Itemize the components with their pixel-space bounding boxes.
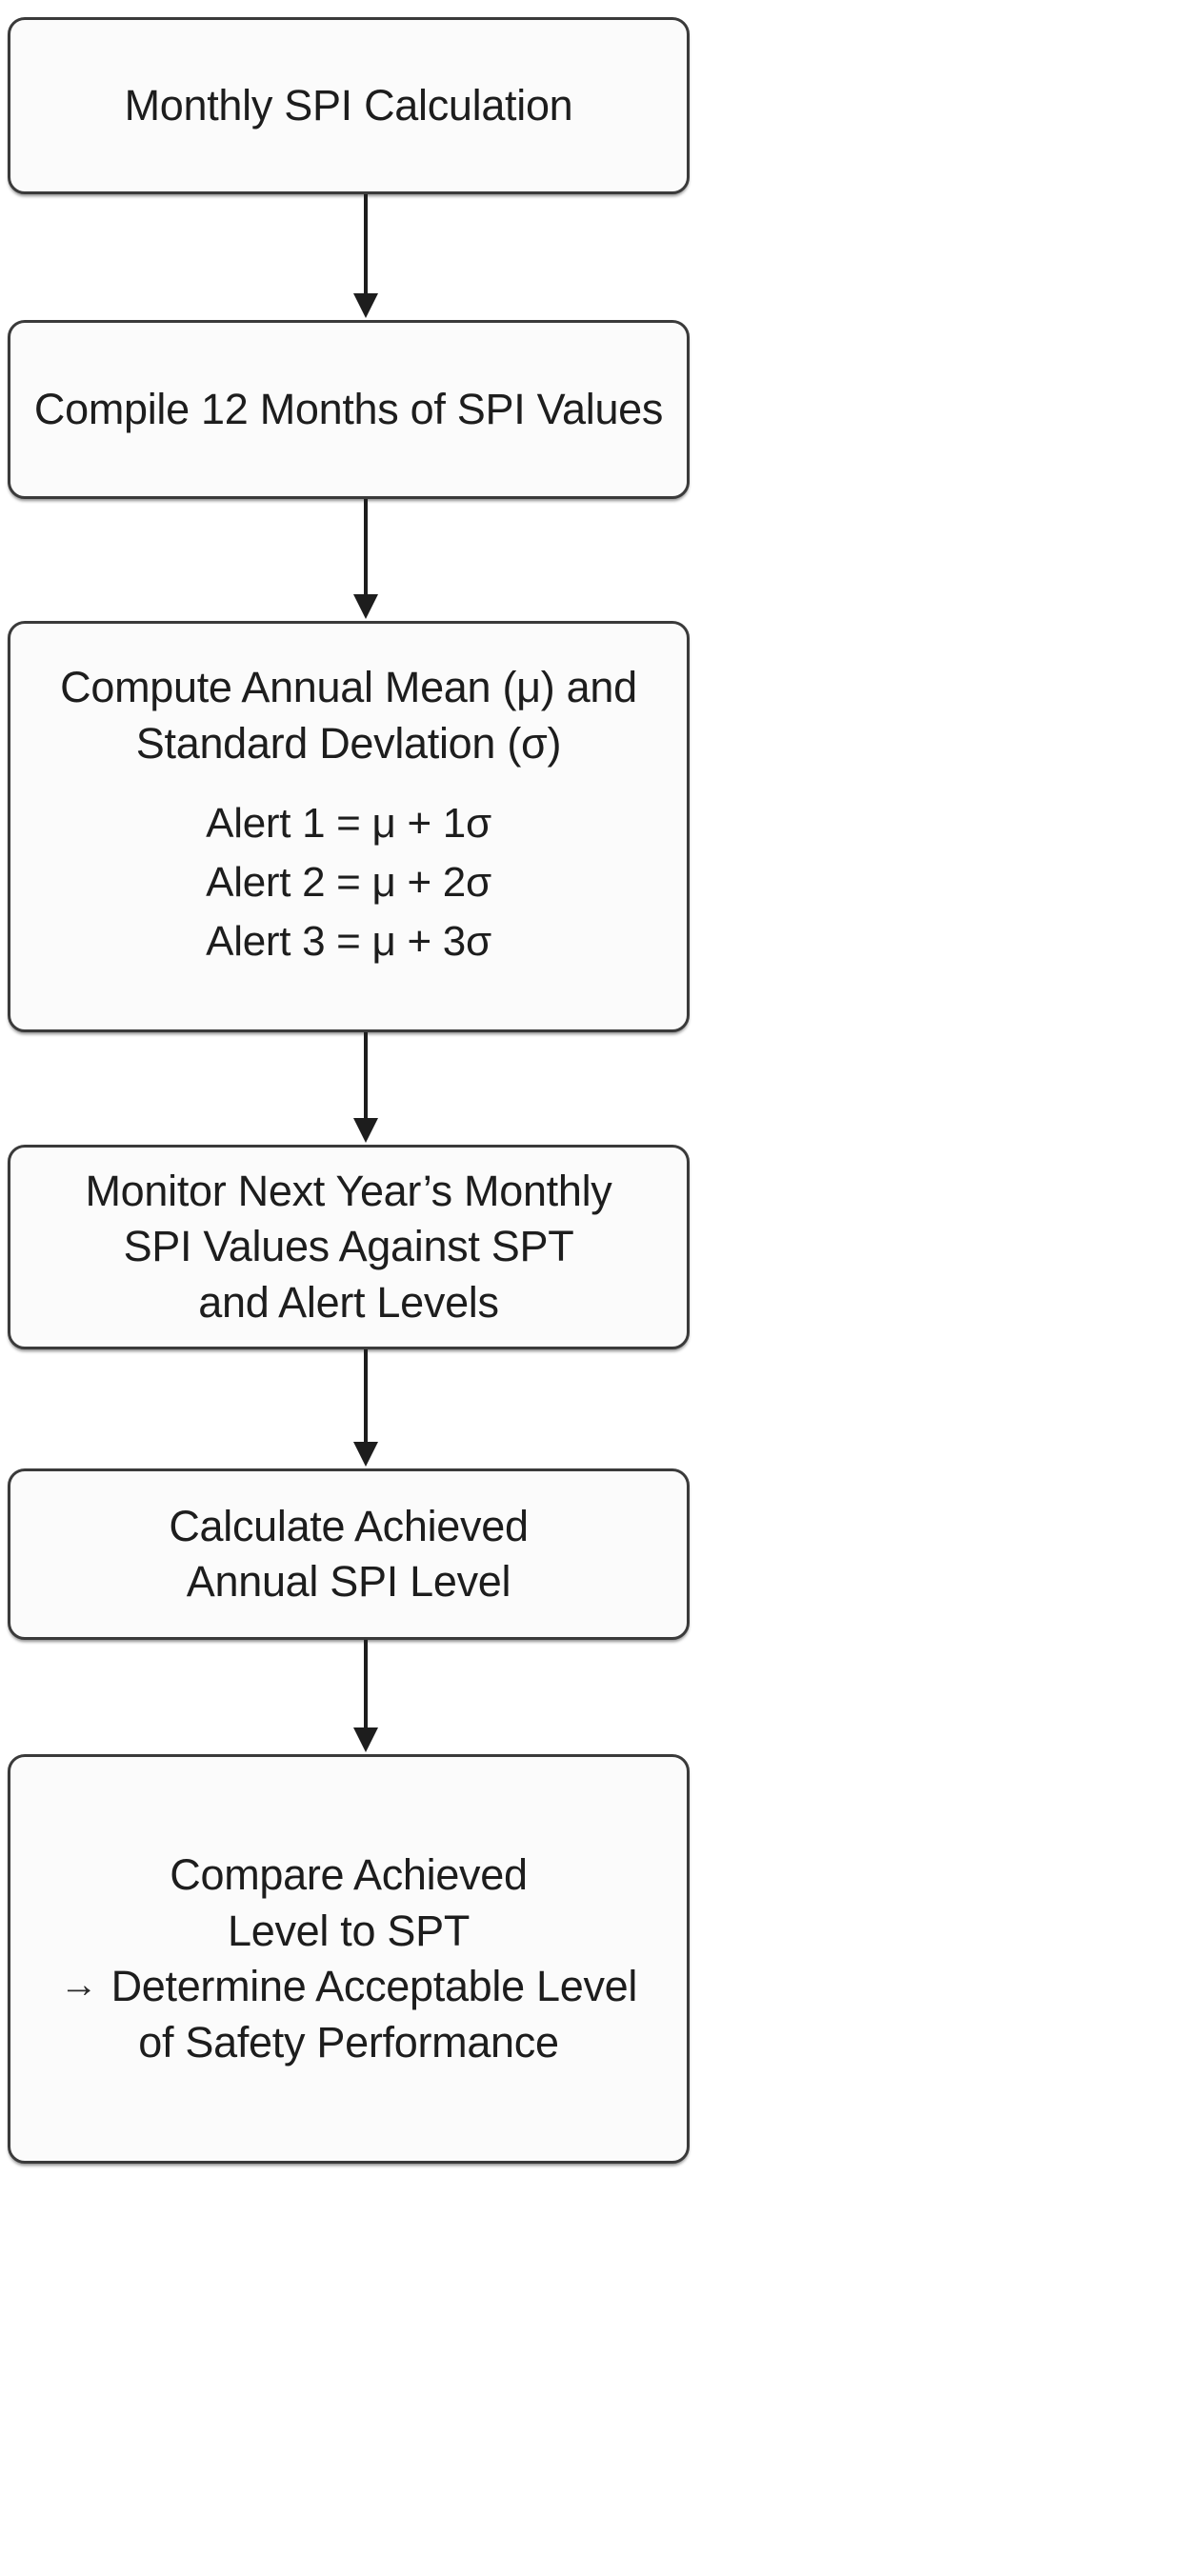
flow-node-label: Monitor Next Year’s Monthly SPI Values A… [70, 1164, 627, 1331]
flow-node-label: Compile 12 Months of SPI Values [19, 382, 678, 438]
flow-node-line-4: of Safety Performance [138, 2015, 558, 2071]
arrow-head-icon [353, 1442, 378, 1467]
arrow-shaft-icon [364, 194, 368, 297]
flow-node-monitor-next-year[interactable]: Monitor Next Year’s Monthly SPI Values A… [8, 1145, 690, 1349]
flow-node-line-3: Determine Acceptable Level [111, 1959, 638, 2015]
flow-node-label: Monthly SPI Calculation [110, 78, 589, 134]
flow-node-line-1: Compare Achieved [170, 1847, 527, 1904]
flow-node-calculate-achieved-level[interactable]: Calculate Achieved Annual SPI Level [8, 1468, 690, 1640]
flow-node-heading: Compute Annual Mean (μ) and Standard Dev… [43, 660, 654, 771]
flow-arrow-5 [8, 1640, 690, 1754]
arrow-shaft-icon [364, 1032, 368, 1122]
flow-node-line-3-row: → Determine Acceptable Level [60, 1959, 637, 2015]
arrow-shaft-icon [364, 1640, 368, 1731]
arrow-head-icon [353, 1727, 378, 1752]
flow-node-compare-achieved-to-spt[interactable]: Compare Achieved Level to SPT → Determin… [8, 1754, 690, 2164]
arrow-head-icon [353, 293, 378, 318]
alert-formula-1: Alert 1 = μ + 1σ [206, 796, 491, 851]
flow-node-compute-mean-and-stddev[interactable]: Compute Annual Mean (μ) and Standard Dev… [8, 621, 690, 1032]
flow-arrow-4 [8, 1349, 690, 1468]
arrow-shaft-icon [364, 1349, 368, 1446]
right-arrow-icon: → [60, 1966, 98, 2004]
flowchart-canvas: Monthly SPI Calculation Compile 12 Month… [0, 0, 1202, 2576]
arrow-head-icon [353, 594, 378, 619]
alert-formula-3: Alert 3 = μ + 3σ [206, 914, 491, 969]
flowchart-node-column: Monthly SPI Calculation Compile 12 Month… [8, 17, 690, 2164]
arrow-shaft-icon [364, 499, 368, 598]
alert-formula-list: Alert 1 = μ + 1σ Alert 2 = μ + 2σ Alert … [206, 796, 491, 969]
flow-node-compile-12-months[interactable]: Compile 12 Months of SPI Values [8, 320, 690, 499]
flow-node-label: Calculate Achieved Annual SPI Level [153, 1499, 543, 1610]
arrow-head-icon [353, 1118, 378, 1143]
flow-node-line-2: Level to SPT [228, 1904, 470, 1960]
flow-arrow-2 [8, 499, 690, 621]
flow-arrow-3 [8, 1032, 690, 1145]
flow-arrow-1 [8, 194, 690, 320]
flow-node-monthly-spi-calculation[interactable]: Monthly SPI Calculation [8, 17, 690, 194]
alert-formula-2: Alert 2 = μ + 2σ [206, 855, 491, 910]
